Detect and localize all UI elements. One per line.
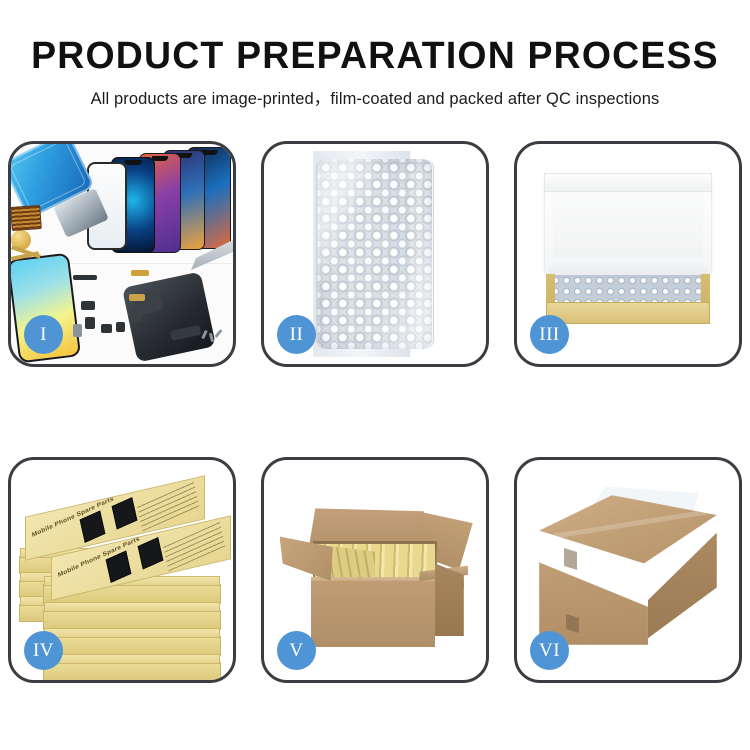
white-box-inner-wall xyxy=(553,192,704,267)
process-step-panel-3[interactable]: III xyxy=(514,141,742,367)
kraft-box-front xyxy=(546,302,710,324)
spare-part-f xyxy=(101,324,112,333)
step-badge-4: IV xyxy=(24,631,63,670)
box-slab-f3 xyxy=(43,636,221,656)
box-slab-f2 xyxy=(43,610,221,630)
lid-window-2 xyxy=(112,497,138,529)
carton-body-front xyxy=(311,581,435,647)
page-subtitle: All products are image-printed，film-coat… xyxy=(0,85,750,109)
process-step-panel-6[interactable]: VI xyxy=(514,457,742,683)
notch-icon xyxy=(125,160,142,165)
wrap-edge xyxy=(316,159,434,348)
process-step-panel-5[interactable]: V xyxy=(261,457,489,683)
step-badge-5: V xyxy=(277,631,316,670)
process-panel-grid: I II III xyxy=(8,141,742,683)
connector-chip xyxy=(11,205,42,231)
page-title: PRODUCT PREPARATION PROCESS xyxy=(6,34,745,78)
spare-part-b xyxy=(131,270,149,276)
spare-part-c xyxy=(129,294,145,301)
carton-tab-upper xyxy=(564,548,577,570)
spare-part-h xyxy=(73,324,82,337)
page-header: PRODUCT PREPARATION PROCESS All products… xyxy=(0,34,750,109)
step-badge-3: III xyxy=(530,315,569,354)
spare-part-g xyxy=(116,322,125,332)
box-slab-f4 xyxy=(43,662,221,680)
step-badge-6: VI xyxy=(530,631,569,670)
bubble-wrapped-contents xyxy=(550,275,705,304)
lid-spec-lines-second xyxy=(163,520,226,571)
product-preparation-page: PRODUCT PREPARATION PROCESS All products… xyxy=(0,0,750,750)
step-badge-2: II xyxy=(277,315,316,354)
carton-body-right xyxy=(435,563,464,636)
process-step-panel-1[interactable]: I xyxy=(8,141,236,367)
lid-window-4 xyxy=(138,537,164,569)
spare-part-e xyxy=(85,317,95,329)
spare-part-i xyxy=(129,314,142,322)
step-badge-1: I xyxy=(24,315,63,354)
white-box-lid-top xyxy=(544,173,713,193)
spare-part-d xyxy=(81,301,95,310)
spare-part-a xyxy=(73,275,97,280)
process-step-panel-4[interactable]: Mobile Phone Spare Parts Mobile Phone Sp… xyxy=(8,457,236,683)
screws-group xyxy=(201,328,225,346)
process-step-panel-2[interactable]: II xyxy=(261,141,489,367)
